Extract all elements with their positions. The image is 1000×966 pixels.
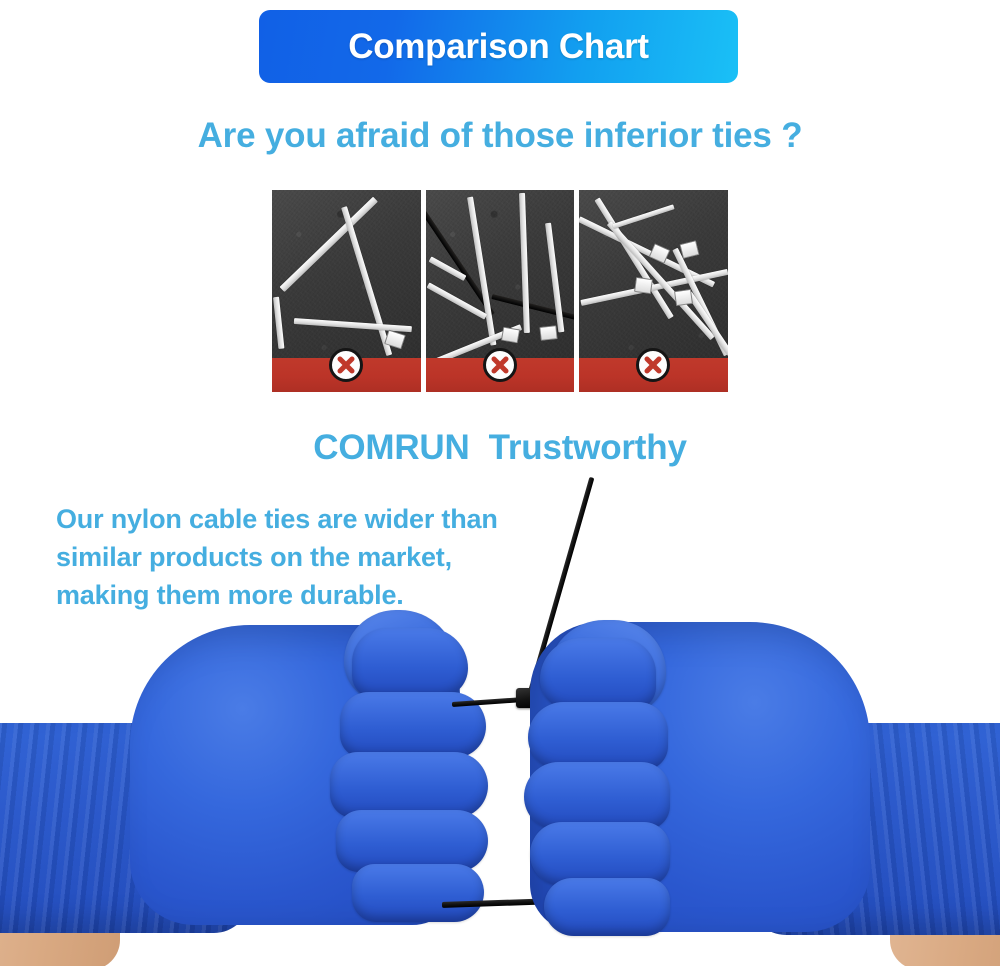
red-x-mark-icon xyxy=(483,348,517,382)
cable-tie-head xyxy=(501,327,520,344)
subheading-text: Are you afraid of those inferior ties ? xyxy=(0,116,1000,156)
comparison-panel-1 xyxy=(272,190,421,392)
cable-tie-head xyxy=(674,289,693,306)
gloved-hands-photo xyxy=(0,470,1000,966)
page-title: Comparison Chart xyxy=(348,27,649,67)
comparison-chart-page: Comparison Chart Are you afraid of those… xyxy=(0,0,1000,966)
header-banner: Comparison Chart xyxy=(259,10,738,83)
glove-right-finger-1 xyxy=(540,638,656,710)
red-x-mark-icon xyxy=(329,348,363,382)
brand-tagline: COMRUN Trustworthy xyxy=(0,428,1000,468)
glove-right-finger-4 xyxy=(530,822,670,886)
glove-right-finger-5 xyxy=(544,878,670,936)
cable-tie-head xyxy=(634,277,653,294)
inferior-ties-panel-strip xyxy=(272,190,728,392)
glove-left-finger-5 xyxy=(352,864,484,922)
glove-left-finger-3 xyxy=(330,752,488,818)
glove-right-finger-2 xyxy=(528,702,668,770)
comparison-panel-2 xyxy=(426,190,575,392)
red-x-mark-icon xyxy=(636,348,670,382)
glove-left-finger-4 xyxy=(336,810,488,872)
comparison-panel-3 xyxy=(579,190,728,392)
glove-left-finger-1 xyxy=(352,628,468,698)
glove-right-finger-3 xyxy=(524,762,670,830)
cable-tie-head xyxy=(539,325,557,341)
